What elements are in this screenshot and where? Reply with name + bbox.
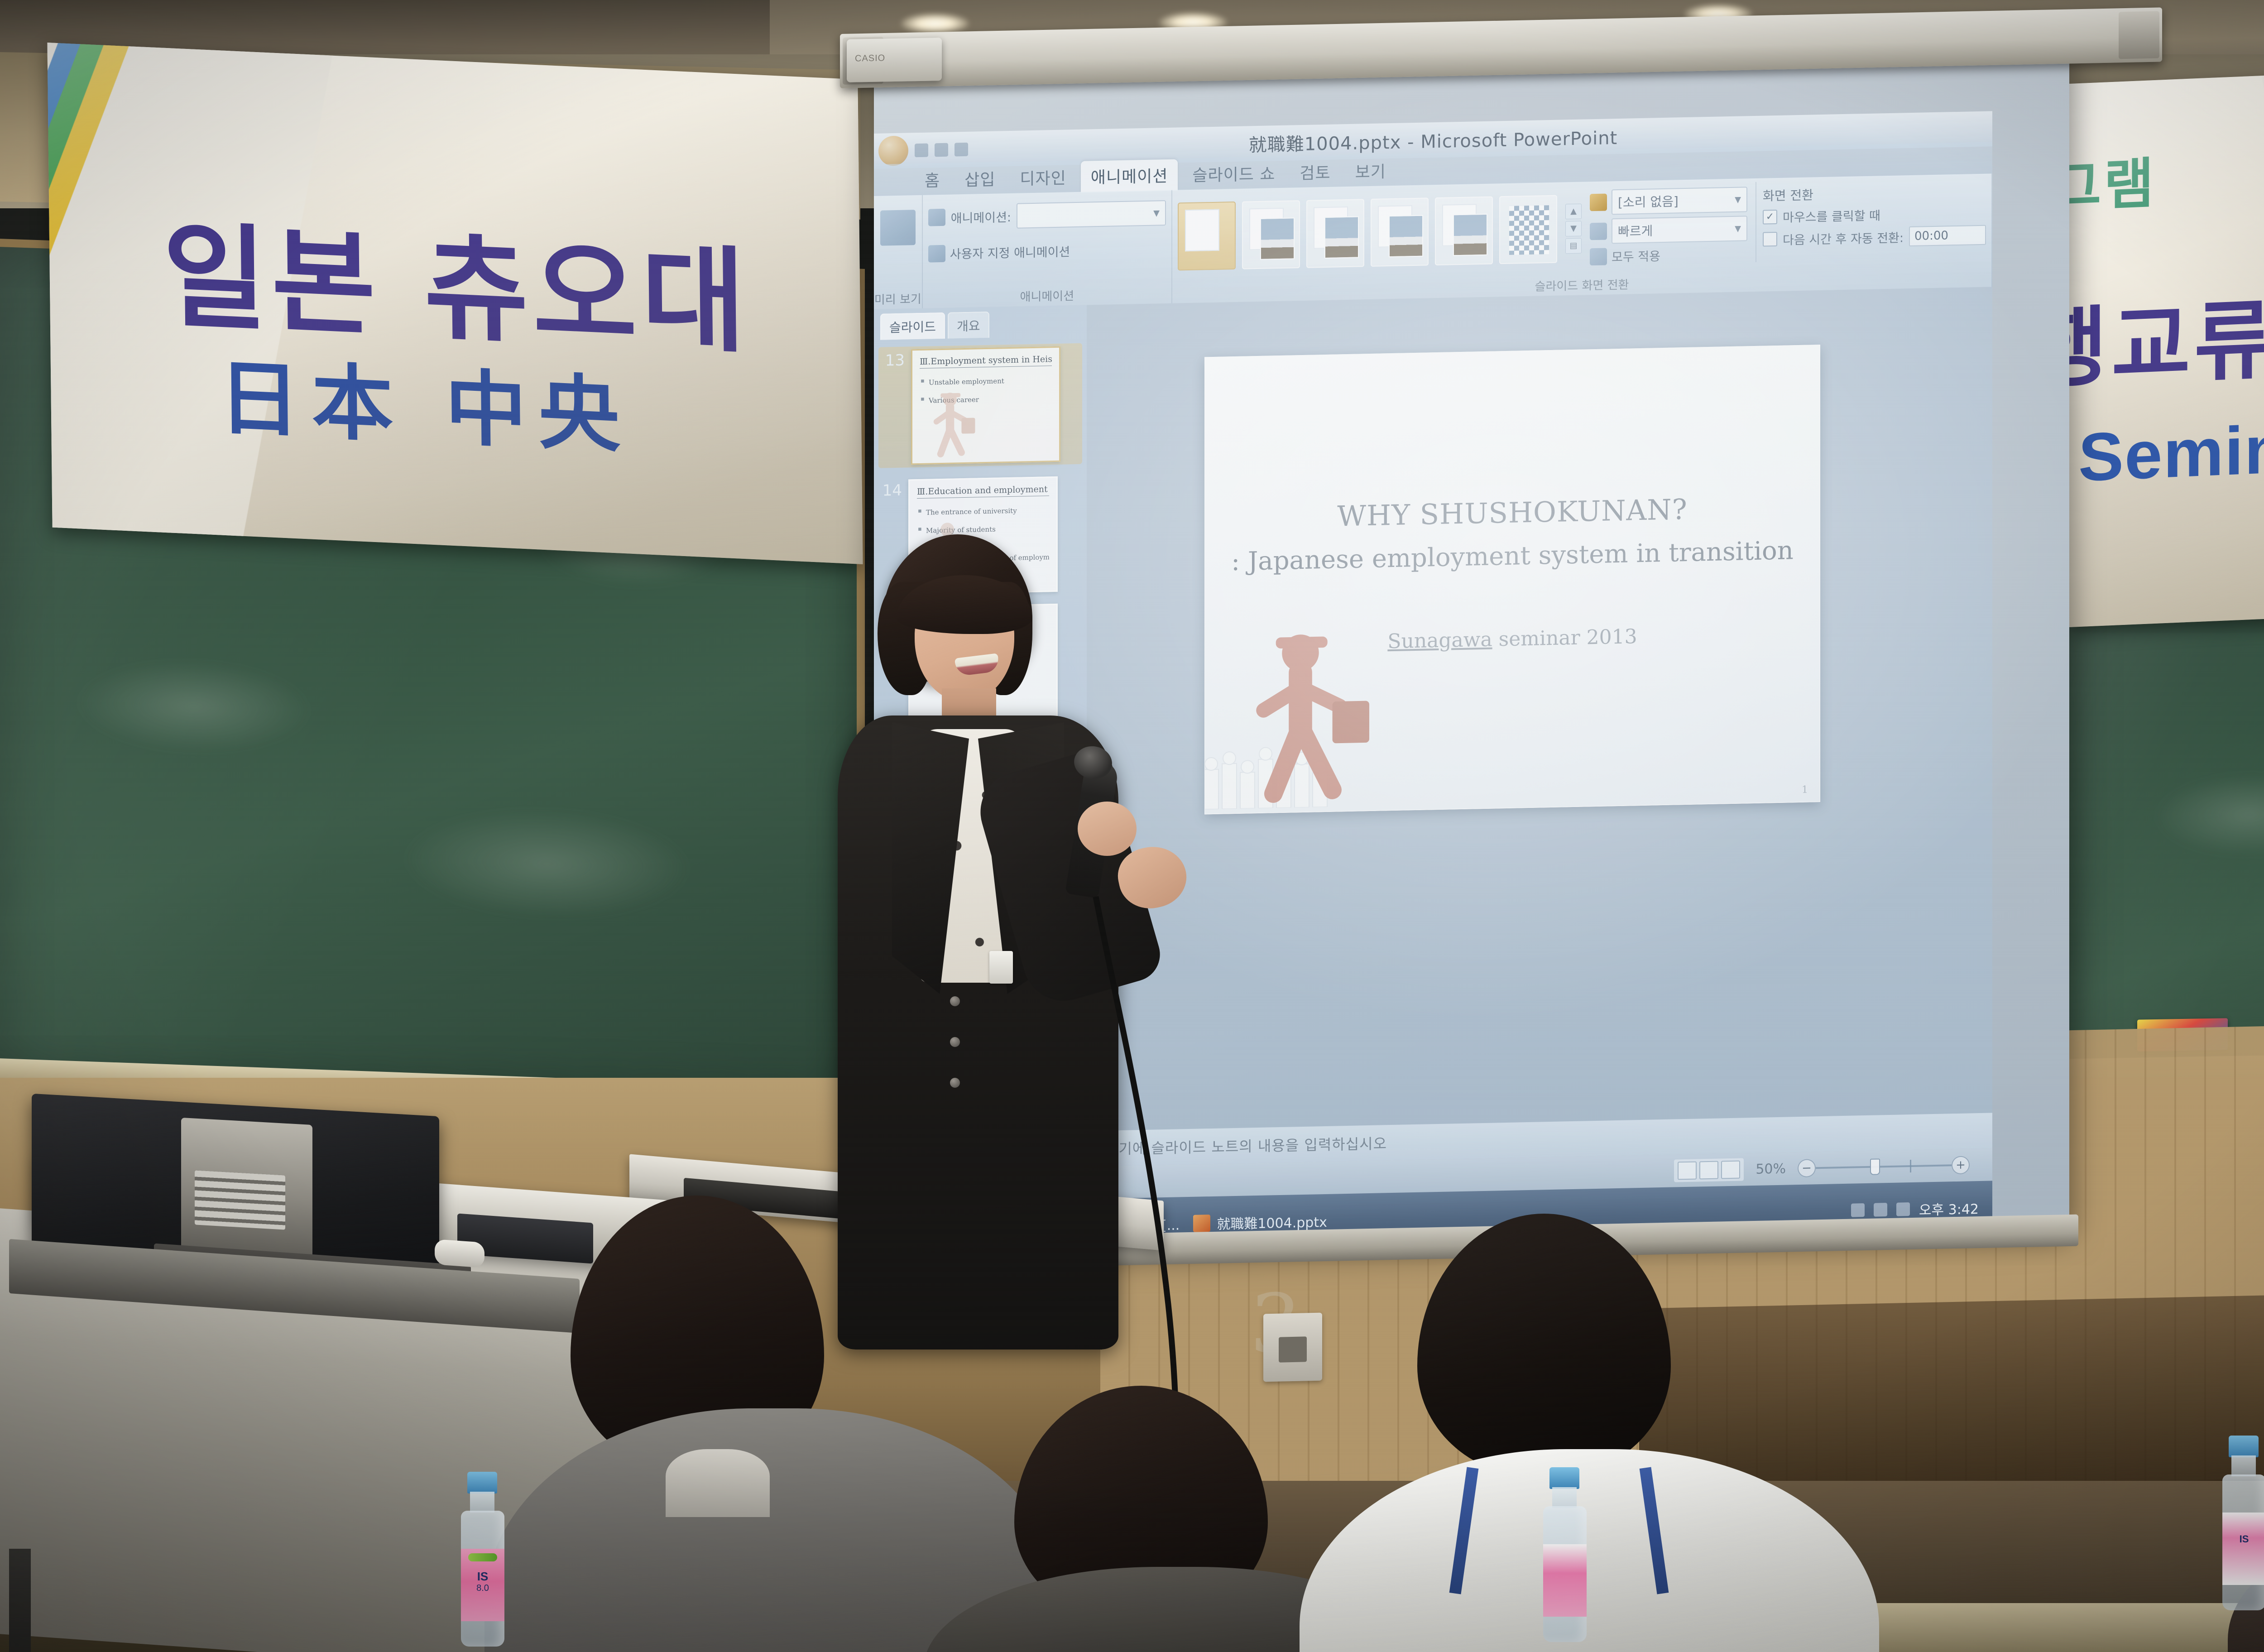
- chevron-down-icon: ▼: [1735, 224, 1741, 233]
- ribbon-group-transition: ▲ ▼ ▤ [소리 없음] ▼: [1172, 173, 1992, 303]
- projector-mount: CASIO: [847, 38, 942, 82]
- tab-review[interactable]: 검토: [1290, 156, 1340, 188]
- podium-edge: [9, 1549, 31, 1652]
- save-icon[interactable]: [915, 144, 928, 158]
- transition-gallery[interactable]: ▲ ▼ ▤: [1178, 186, 1582, 274]
- bottle-neck: [2231, 1455, 2256, 1476]
- jacket-button: [950, 996, 960, 1006]
- pane-tab-slides[interactable]: 슬라이드: [880, 312, 945, 340]
- ribbon-group-preview: 미리 보기: [874, 195, 923, 309]
- thumbnail-title: Ⅲ.Education and employment: [917, 484, 1049, 499]
- zoom-level: 50%: [1756, 1161, 1786, 1177]
- thumbnail-card[interactable]: Ⅲ.Employment system in Heisei era② Unsta…: [911, 346, 1060, 465]
- animate-label: 애니메이션:: [951, 207, 1011, 226]
- banner-left-japanese: 日本 中央: [218, 331, 632, 468]
- banner-right-korean: 행교류 세미나: [2069, 258, 2264, 405]
- ribbon-group-label-animations: 애니메이션: [923, 285, 1171, 307]
- tab-animations[interactable]: 애니메이션: [1081, 159, 1178, 193]
- apply-to-all-label: 모두 적용: [1612, 246, 1660, 265]
- tab-design[interactable]: 디자인: [1010, 161, 1076, 194]
- transition-sound-dropdown[interactable]: [소리 없음] ▼: [1612, 187, 1747, 215]
- bottle-volume-text: 8.0: [461, 1583, 504, 1594]
- transition-none[interactable]: [1178, 201, 1236, 270]
- thumbnail-number: 13: [881, 350, 905, 370]
- slide-page-number: 1: [1802, 784, 1808, 796]
- bottle-neck: [470, 1492, 494, 1513]
- banner-left: 일본 츄오대 日本 中央: [47, 43, 863, 564]
- advance-on-click-checkbox[interactable]: ✓ 마우스를 클릭할 때: [1763, 204, 1986, 226]
- redo-icon[interactable]: [955, 143, 968, 157]
- transition-push[interactable]: [1371, 197, 1429, 267]
- current-slide[interactable]: WHY SHUSHOKUNAN? : Japanese employment s…: [1204, 345, 1820, 814]
- jacket-button: [950, 1078, 960, 1088]
- zoom-out-icon[interactable]: −: [1798, 1159, 1816, 1177]
- thumbnail-bullet: Unstable employment: [920, 376, 1052, 387]
- bottle-label: IS: [2222, 1513, 2264, 1585]
- water-bottle-1[interactable]: IS 8.0: [457, 1472, 512, 1652]
- transition-fade[interactable]: [1242, 200, 1300, 269]
- chalk-smudge: [76, 657, 312, 756]
- chevron-down-icon: ▼: [1735, 195, 1741, 204]
- zoom-slider[interactable]: − +: [1798, 1156, 1970, 1177]
- slide-subtitle: : Japanese employment system in transiti…: [1205, 535, 1820, 577]
- speed-icon: [1590, 223, 1607, 240]
- bottle-cap: [1549, 1467, 1579, 1489]
- undo-icon[interactable]: [935, 143, 948, 157]
- volume-icon[interactable]: [1851, 1203, 1865, 1217]
- computer-mouse[interactable]: [435, 1239, 484, 1268]
- audience-member-1: [512, 1196, 1010, 1652]
- presenter-hand-on-mic: [1078, 802, 1137, 856]
- bottle-label: IS 8.0: [461, 1549, 504, 1621]
- housing-end-cap: [2119, 11, 2159, 59]
- transition-speed-row[interactable]: 빠르게 ▼: [1590, 216, 1747, 244]
- chalk-smudge: [2154, 773, 2264, 857]
- chevron-down-icon: ▼: [1153, 208, 1160, 218]
- lecture-hall-scene: 3 일본 츄오대 日本 中央 그램 행교류 세미나 Seminar CASIO: [0, 0, 2264, 1652]
- tab-home[interactable]: 홈: [915, 164, 950, 197]
- chevron-down-icon[interactable]: ▼: [1565, 221, 1582, 236]
- advance-after-time-checkbox[interactable]: 다음 시간 후 자동 전환: 00:00: [1763, 225, 1986, 250]
- bottle-brand-text: IS: [2222, 1533, 2264, 1545]
- presenter-name-badge: [989, 951, 1013, 984]
- transition-wipe[interactable]: [1306, 199, 1364, 268]
- bottle-label: [1543, 1544, 1587, 1617]
- zoom-in-icon[interactable]: +: [1952, 1156, 1970, 1174]
- slide-sorter-icon[interactable]: [1699, 1161, 1718, 1180]
- slide-show-icon[interactable]: [1721, 1161, 1740, 1179]
- tab-slideshow[interactable]: 슬라이드 쇼: [1182, 157, 1285, 191]
- thumbnail-number: 14: [878, 480, 902, 500]
- slide-title: WHY SHUSHOKUNAN?: [1205, 490, 1820, 535]
- audience-head: [1417, 1214, 1671, 1476]
- gallery-scroll-controls[interactable]: ▲ ▼ ▤: [1565, 203, 1582, 254]
- thumbnail-item-13[interactable]: 13 Ⅲ.Employment system in Heisei era② Un…: [878, 343, 1082, 468]
- advance-on-click-label: 마우스를 클릭할 때: [1783, 206, 1880, 225]
- walking-businessman-icon: [1241, 629, 1377, 804]
- view-buttons[interactable]: [1674, 1158, 1744, 1182]
- network-icon[interactable]: [1874, 1203, 1887, 1217]
- tab-view[interactable]: 보기: [1345, 155, 1396, 187]
- banner-right: 그램 행교류 세미나 Seminar: [2069, 66, 2264, 627]
- slide-author-rest: seminar 2013: [1492, 625, 1637, 651]
- jacket-button: [950, 1037, 960, 1047]
- bottle-brand-text: IS: [461, 1570, 504, 1584]
- outlet-socket-icon: [1279, 1336, 1307, 1362]
- bottle-cap: [2229, 1436, 2259, 1457]
- zoom-thumb[interactable]: [1870, 1158, 1880, 1175]
- gallery-more-icon[interactable]: ▤: [1565, 238, 1582, 254]
- pane-tab-outline[interactable]: 개요: [948, 312, 989, 339]
- bottle-cap: [467, 1472, 497, 1494]
- custom-animation-button[interactable]: 사용자 지정 애니메이션: [928, 240, 1166, 263]
- ceiling-light: [901, 14, 969, 34]
- taskbar-clock[interactable]: 오후 3:42: [1919, 1198, 1979, 1219]
- transition-sound-value: [소리 없음]: [1618, 192, 1679, 211]
- advance-after-time-input[interactable]: 00:00: [1909, 225, 1986, 246]
- bottle-neck: [1552, 1487, 1577, 1508]
- checkbox-checked-icon: ✓: [1763, 209, 1777, 224]
- thumbnail-title: Ⅲ.Employment system in Heisei era②: [920, 354, 1052, 369]
- projector-brand-label: CASIO: [855, 53, 885, 64]
- pane-tab-strip: 슬라이드 개요: [874, 305, 1087, 340]
- advance-after-label: 다음 시간 후 자동 전환:: [1783, 228, 1904, 248]
- walking-businessman-icon: [926, 390, 980, 459]
- thumbnail-bullet: The entrance of university: [917, 506, 1049, 517]
- monitor-vent-slots: [195, 1170, 285, 1229]
- water-bottle-2[interactable]: [1540, 1467, 1594, 1652]
- custom-animation-label: 사용자 지정 애니메이션: [950, 242, 1070, 262]
- wall-outlet[interactable]: [1263, 1313, 1322, 1382]
- slide-author-name: Sunagawa: [1387, 628, 1492, 653]
- transition-speed-dropdown[interactable]: 빠르게 ▼: [1612, 216, 1747, 244]
- office-button-icon[interactable]: [878, 135, 908, 166]
- audience-collar: [666, 1449, 770, 1517]
- zoom-tick: [1910, 1160, 1911, 1172]
- custom-animation-icon: [928, 245, 945, 262]
- checkbox-unchecked-icon: [1763, 232, 1777, 247]
- banner-right-english: Seminar: [2078, 407, 2264, 497]
- bottle-label-accent: [468, 1553, 497, 1561]
- quick-access-toolbar[interactable]: [878, 134, 968, 166]
- ime-icon[interactable]: [1896, 1202, 1910, 1216]
- zoom-track[interactable]: [1816, 1164, 1952, 1169]
- water-bottle-3[interactable]: IS: [2219, 1436, 2264, 1648]
- transition-dissolve[interactable]: [1499, 195, 1557, 264]
- transition-cover[interactable]: [1435, 196, 1493, 265]
- ribbon: 미리 보기 애니메이션: ▼: [874, 173, 1992, 309]
- slide-edit-pane: WHY SHUSHOKUNAN? : Japanese employment s…: [1087, 287, 1992, 1166]
- transition-speed-value: 빠르게: [1618, 221, 1653, 240]
- preview-icon[interactable]: [880, 210, 916, 246]
- normal-view-icon[interactable]: [1678, 1162, 1697, 1180]
- animate-dropdown[interactable]: ▼: [1017, 200, 1166, 229]
- powerpoint-icon: [1193, 1215, 1210, 1232]
- apply-all-icon: [1590, 248, 1607, 265]
- banner-right-green-text: 그램: [2069, 139, 2157, 222]
- ribbon-group-animations: 애니메이션: ▼ 사용자 지정 애니메이션 애니메이션: [923, 190, 1172, 308]
- transition-sound-row[interactable]: [소리 없음] ▼: [1590, 187, 1747, 215]
- animation-icon: [928, 209, 945, 226]
- chalk-smudge: [402, 804, 692, 923]
- apply-to-all-button[interactable]: 모두 적용: [1590, 245, 1747, 265]
- sound-icon: [1590, 194, 1607, 211]
- ribbon-group-label-preview: 미리 보기: [874, 290, 922, 307]
- advance-slide-title: 화면 전환: [1763, 182, 1986, 205]
- tab-insert[interactable]: 삽입: [955, 163, 1005, 195]
- chevron-up-icon[interactable]: ▲: [1565, 203, 1582, 219]
